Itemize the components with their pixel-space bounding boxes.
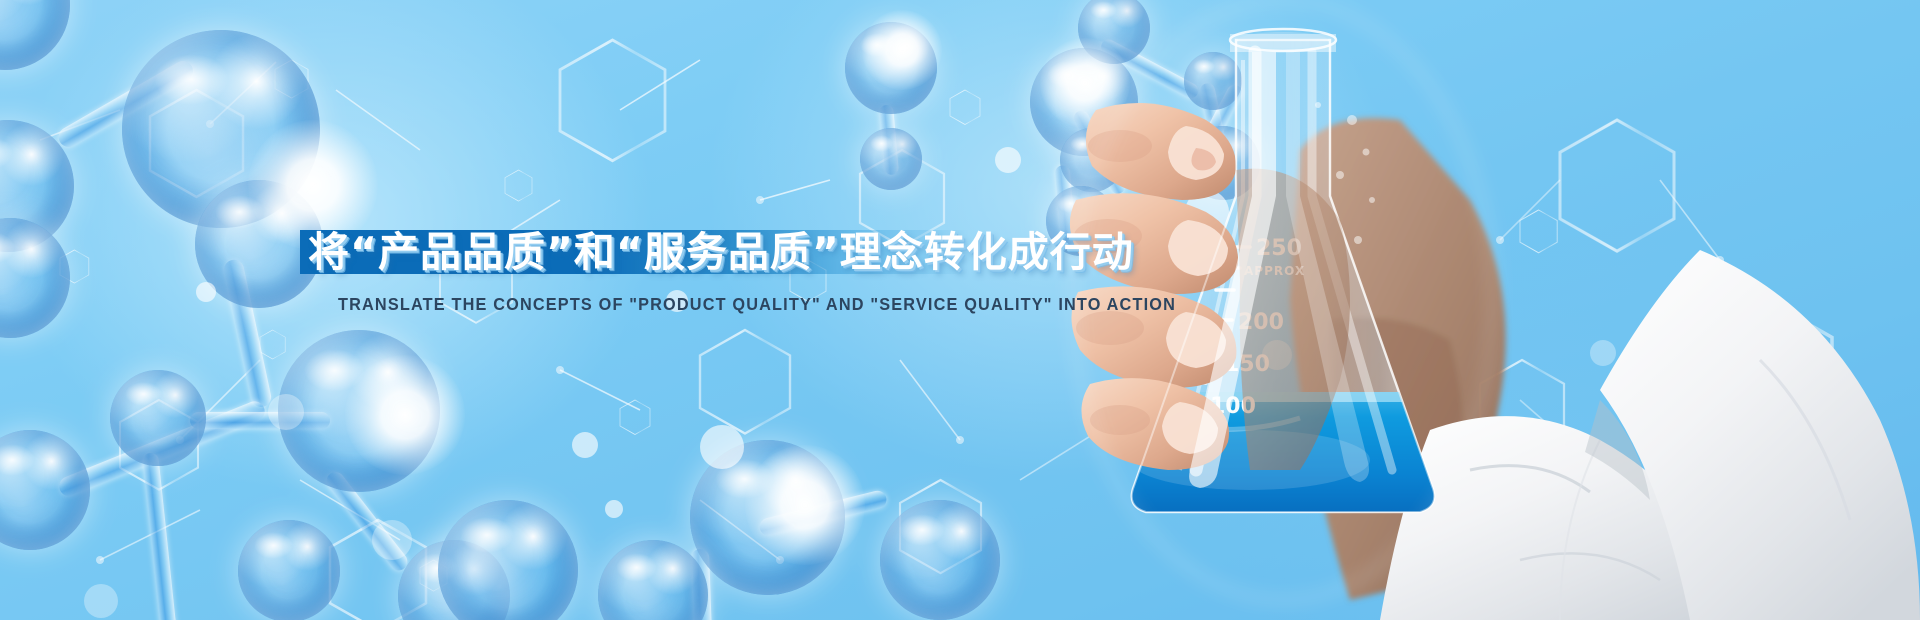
- svg-text:APPROX: APPROX: [1244, 264, 1305, 278]
- bokeh-dot: [572, 432, 598, 458]
- forearm: [1290, 118, 1520, 600]
- bokeh-dot: [1745, 330, 1779, 364]
- bokeh-dot: [1262, 340, 1292, 370]
- lab-coat: [1380, 250, 1920, 620]
- svg-text:150: 150: [1224, 352, 1270, 377]
- page-title: 将“产品品质”和“服务品质”理念转化成行动: [308, 213, 1134, 291]
- flask-front-sheen: [1132, 40, 1435, 512]
- blue-liquid: [1120, 392, 1450, 530]
- headline-banner: 将“产品品质”和“服务品质”理念转化成行动: [300, 230, 1060, 274]
- bokeh-dot: [372, 520, 412, 560]
- bokeh-dot: [268, 394, 304, 430]
- bokeh-dot: [700, 425, 744, 469]
- lab-banner: 250 APPROX 200 150 100: [0, 0, 1920, 620]
- bokeh-dot: [605, 500, 623, 518]
- bokeh-dot: [84, 584, 118, 618]
- svg-text:250: 250: [1256, 236, 1302, 261]
- background-glow-right: [1080, 120, 1920, 620]
- svg-text:200: 200: [1238, 310, 1284, 335]
- bokeh-dot: [1185, 190, 1229, 234]
- subtitle-text: TRANSLATE THE CONCEPTS OF "PRODUCT QUALI…: [338, 294, 1176, 315]
- bokeh-dot: [1590, 340, 1616, 366]
- bokeh-dot: [196, 282, 216, 302]
- svg-text:100: 100: [1210, 394, 1256, 419]
- erlenmeyer-flask: 250 APPROX 200 150 100: [1120, 29, 1450, 530]
- bokeh-dot: [995, 147, 1021, 173]
